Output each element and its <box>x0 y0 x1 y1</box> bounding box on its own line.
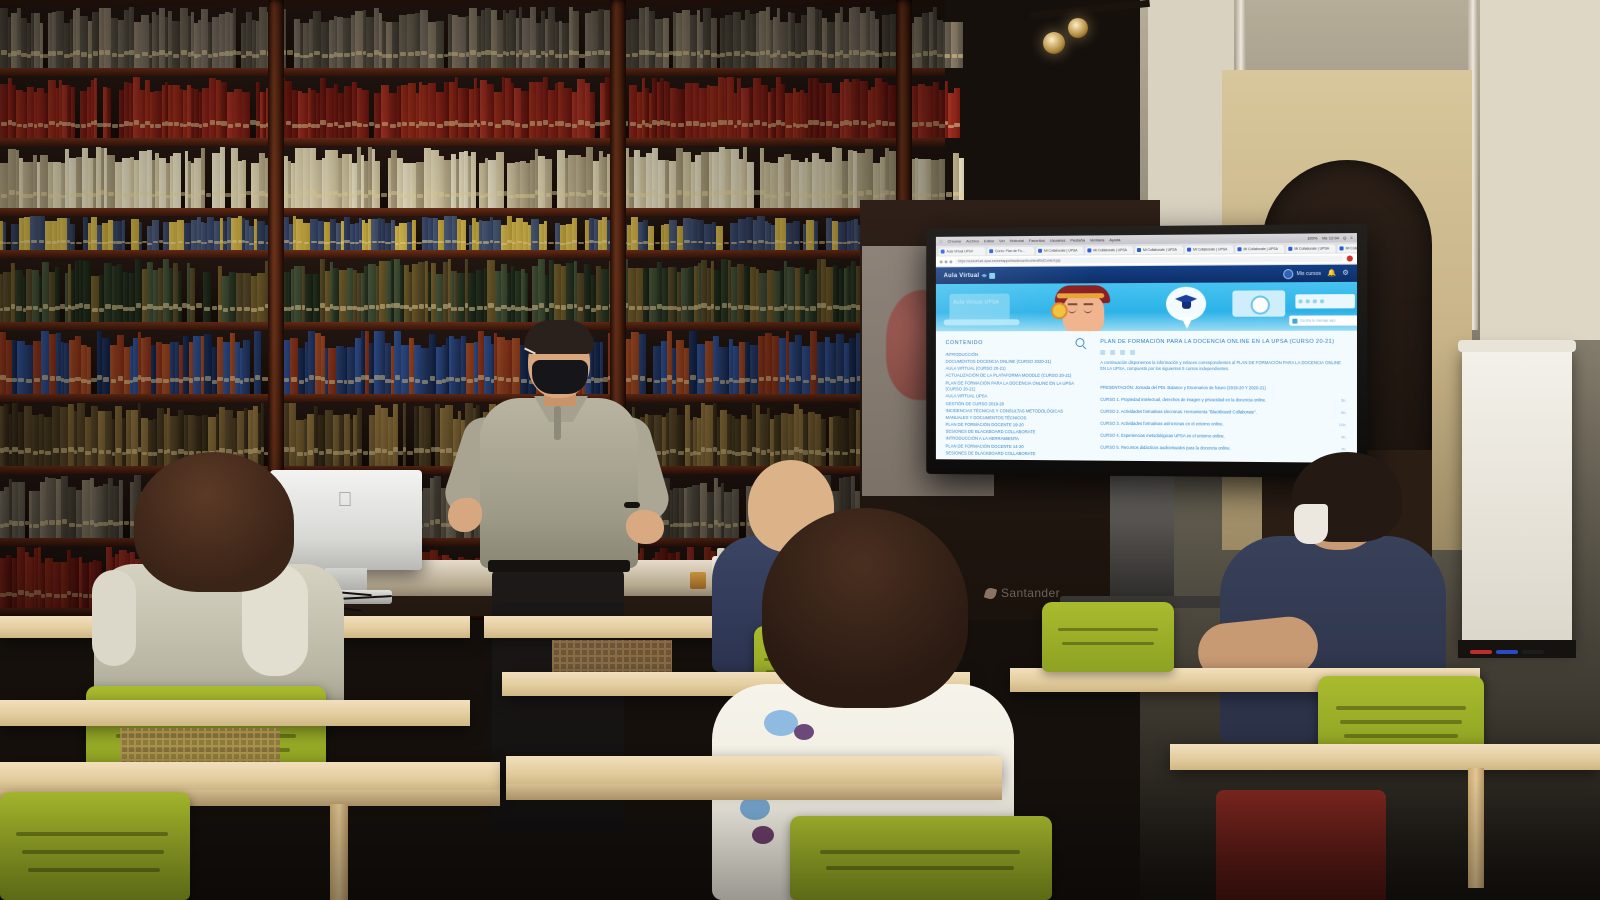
menubar-battery[interactable]: 100% <box>1307 235 1317 240</box>
course-page-body: CONTENIDO INTRODUCCIÓNDOCUMENTOS DOCENCI… <box>936 331 1357 463</box>
toolbar-icon-3[interactable] <box>1120 350 1125 355</box>
book-spine <box>860 81 868 138</box>
book-spine <box>344 86 352 138</box>
book-spine <box>11 224 19 250</box>
blouse-flower-1 <box>764 710 798 736</box>
book-spine <box>305 274 313 322</box>
book-spine <box>476 270 484 322</box>
book-spine <box>313 11 321 68</box>
menubar-item-5[interactable]: Favoritos <box>1029 238 1045 243</box>
book-spine <box>725 15 733 68</box>
book-spine <box>236 273 243 322</box>
book-spine <box>27 87 34 138</box>
content-toolbar[interactable] <box>1100 350 1346 355</box>
menubar-item-7[interactable]: Pestaña <box>1070 238 1085 243</box>
book-spine <box>368 264 376 322</box>
table-leg-b <box>1468 768 1484 888</box>
banner-toolbar-card <box>1295 294 1355 308</box>
bell-icon[interactable]: 🔔 <box>1327 270 1336 277</box>
book-spine <box>3 272 11 322</box>
book-spine <box>629 85 637 138</box>
book-spine <box>173 153 181 208</box>
book-spine <box>469 8 477 68</box>
spotlight-1 <box>1043 32 1065 54</box>
contenido-header: CONTENIDO <box>946 338 1085 347</box>
headphone-icon <box>1051 302 1068 319</box>
reload-icon[interactable] <box>949 260 952 263</box>
book-spine <box>554 264 561 322</box>
book-spine <box>227 92 234 138</box>
tab-label: Mi Collaborate | UPSA <box>1193 247 1227 251</box>
character-face <box>1063 294 1105 331</box>
book-spine <box>102 338 110 394</box>
book-spine <box>547 224 555 250</box>
forward-icon[interactable] <box>945 260 948 263</box>
book-spine <box>704 224 712 250</box>
shelf-back-1 <box>0 76 945 138</box>
book-spine <box>655 19 663 68</box>
book-spine <box>347 347 355 394</box>
book-spine <box>48 478 56 538</box>
course-link-label[interactable]: CURSO 5. Recursos didácticos audiovisual… <box>1100 445 1335 452</box>
course-menu-item-0[interactable]: INTRODUCCIÓN <box>946 352 1085 359</box>
shelf-back-0 <box>0 6 945 68</box>
book-spine <box>394 331 401 394</box>
book-spine <box>254 331 261 394</box>
book-spine <box>852 79 860 138</box>
book-spine <box>139 151 147 208</box>
menubar-clock[interactable]: Vie 12:04 <box>1322 235 1339 240</box>
book-spine <box>283 340 290 394</box>
course-menu-item-11[interactable]: INTRODUCCIÓN A LA HERRAMIENTA <box>946 436 1085 444</box>
book-spine <box>229 272 236 322</box>
book-spine <box>577 273 584 322</box>
book-spine <box>259 7 267 68</box>
book-spine <box>787 267 795 322</box>
book-spine <box>212 153 220 208</box>
book-spine <box>723 225 730 250</box>
attendee-3-hair <box>762 508 968 708</box>
book-spine <box>203 272 211 322</box>
menubar-item-8[interactable]: Ventana <box>1090 237 1105 242</box>
book-spine <box>833 416 841 466</box>
chair-foreground-red <box>1216 790 1386 900</box>
book-spine <box>381 85 389 138</box>
flipchart <box>1462 348 1572 648</box>
book-spine <box>836 334 844 394</box>
course-link-row-2[interactable]: CURSO 2. Actividades formativas síncrona… <box>1100 409 1346 415</box>
book-spine <box>134 22 141 68</box>
book-spine <box>954 88 960 138</box>
book-spine <box>107 155 115 208</box>
book-spine <box>212 17 219 68</box>
course-menu-item-1[interactable]: DOCUMENTOS DOCENCIA ONLINE (CURSO 2020-2… <box>946 359 1085 366</box>
aula-virtual-navbar[interactable]: Aula Virtual Mis cursos 🔔 ⚙ <box>936 265 1357 285</box>
browser-tab-5[interactable]: Mi Collaborate | UPSA <box>1185 245 1233 253</box>
book-spine <box>733 12 741 68</box>
my-courses-button[interactable]: Mis cursos <box>1283 268 1321 278</box>
course-link-label[interactable]: CURSO 2. Actividades formativas síncrona… <box>1100 409 1335 415</box>
toolbar-icon-1[interactable] <box>1100 350 1105 355</box>
content-title: PLAN DE FORMACIÓN PARA LA DOCENCIA ONLIN… <box>1100 339 1346 347</box>
browser-nav-buttons[interactable] <box>940 260 953 263</box>
book-spine <box>56 11 64 68</box>
book-spine <box>48 80 56 138</box>
tab-favicon <box>1187 247 1191 251</box>
book-spine <box>731 149 739 208</box>
book-spine <box>806 220 814 250</box>
book-spine <box>379 261 386 322</box>
book-spine <box>676 148 683 208</box>
toolbar-icon-2[interactable] <box>1110 350 1115 355</box>
course-content-panel: PLAN DE FORMACIÓN PARA LA DOCENCIA ONLIN… <box>1092 331 1357 463</box>
book-spine <box>339 270 347 322</box>
book-spine <box>111 92 119 139</box>
menubar-item-4[interactable]: Historial <box>1010 238 1024 243</box>
book-spine <box>32 270 39 322</box>
book-row-3 <box>0 216 945 250</box>
book-spine <box>8 149 16 208</box>
book-spine <box>712 152 719 208</box>
book-spine <box>131 219 139 250</box>
course-link-row-5[interactable]: CURSO 5. Recursos didácticos audiovisual… <box>1100 445 1346 452</box>
book-spine <box>429 334 436 394</box>
tab-favicon <box>1087 248 1091 252</box>
chair-foreground-left <box>0 792 190 900</box>
book-spine <box>257 221 265 250</box>
book-spine <box>326 88 334 138</box>
book-spine <box>399 223 407 250</box>
book-spine <box>669 220 677 250</box>
course-menu-item-6[interactable]: GESTIÓN DE CURSO 2019-20 <box>946 401 1085 408</box>
back-icon[interactable] <box>940 260 943 263</box>
browser-tab-6[interactable]: Mi Collaborate | UPSA <box>1235 244 1284 252</box>
book-spine <box>294 266 302 322</box>
marker-black <box>1522 650 1544 654</box>
book-spine <box>420 10 428 68</box>
book-spine <box>521 91 529 138</box>
chair-slot-15 <box>28 868 160 872</box>
book-spine <box>374 93 381 138</box>
book-spine <box>298 348 305 394</box>
chair-slot-11 <box>1058 628 1158 631</box>
table-row-1-center-edge <box>506 784 1002 800</box>
book-spine <box>0 84 8 138</box>
chat-placeholder: Escribe tu mensaje aquí <box>1301 319 1336 323</box>
book-spine <box>562 23 569 68</box>
book-spine <box>45 221 52 250</box>
book-spine <box>104 263 112 322</box>
book-spine <box>487 260 495 322</box>
book-spine <box>825 162 832 209</box>
book-spine <box>133 77 140 138</box>
shelf-back-3 <box>0 216 945 250</box>
browser-tab-0[interactable]: Aula Virtual UPSA <box>939 247 986 255</box>
book-spine <box>321 22 329 69</box>
book-spine <box>195 259 203 322</box>
book-spine <box>727 77 734 138</box>
book-spine <box>0 163 8 208</box>
chair-slot-14 <box>22 850 164 854</box>
menubar-item-0[interactable]: Chrome <box>948 239 962 244</box>
chair-slot-10 <box>826 866 1014 870</box>
course-link-label[interactable]: PRESENTACIÓN: Jornada del PDI. Balance y… <box>1100 385 1340 391</box>
book-spine <box>180 8 188 68</box>
book-spine <box>414 345 421 394</box>
course-menu-item-12[interactable]: PLAN DE FORMACIÓN DOCENTE 14-20 <box>946 443 1085 451</box>
display-stand-column <box>1110 476 1174 604</box>
course-menu-item-7[interactable]: INCIDENCIAS TÉCNICAS Y CONSULTAS METODOL… <box>946 408 1085 415</box>
book-spine <box>682 10 690 68</box>
book-spine <box>568 155 576 208</box>
attendee-1-collar-left <box>92 570 136 666</box>
menubar-item-1[interactable]: Archivo <box>966 238 979 243</box>
book-spine <box>177 220 184 250</box>
book-spine <box>677 89 685 138</box>
banner-dot-3 <box>1313 299 1317 303</box>
book-spine <box>141 15 149 68</box>
book-spine <box>135 259 142 322</box>
book-spine <box>765 333 772 394</box>
banner-chat-card: Escribe tu mensaje aquí <box>1289 315 1357 325</box>
book-spine <box>184 223 191 250</box>
tab-label: Mi Collaborate | UPSA <box>1346 246 1357 250</box>
book-spine <box>701 152 709 208</box>
book-spine <box>207 217 214 250</box>
book-spine <box>193 336 201 394</box>
book-spine <box>60 218 67 250</box>
browser-tab-3[interactable]: Mi Collaborate | UPSA <box>1085 246 1133 254</box>
book-spine <box>37 88 44 138</box>
book-spine <box>759 273 767 322</box>
room-background: Santander  Chrome Archivo Editar Ver Hi… <box>0 0 1600 900</box>
chat-avatar-icon <box>1292 318 1297 323</box>
course-menu-item-3[interactable]: ACTUALIZACIÓN DE LA PLATAFORMA MOODLE (C… <box>946 373 1085 380</box>
book-spine <box>658 160 665 208</box>
my-courses-label: Mis cursos <box>1297 270 1321 276</box>
book-spine <box>692 485 700 538</box>
menubar-search-icon[interactable]: Q <box>1343 235 1346 240</box>
book-spine <box>204 334 212 394</box>
book-spine <box>807 7 815 68</box>
course-link-hours: 5h. <box>1341 410 1347 415</box>
book-spine <box>669 161 676 208</box>
table-row-2-left <box>0 700 470 726</box>
course-menu-panel: CONTENIDO INTRODUCCIÓNDOCUMENTOS DOCENCI… <box>936 331 1092 463</box>
book-spine <box>760 414 767 466</box>
book-spine <box>750 345 758 394</box>
wall-panel-right <box>1480 0 1600 340</box>
book-spine <box>882 15 890 68</box>
book-spine <box>53 162 61 208</box>
contenido-heading: CONTENIDO <box>946 340 983 346</box>
course-link-row-1[interactable]: CURSO 1. Propiedad intelectual, derechos… <box>1100 397 1346 403</box>
browser-tab-8[interactable]: Mi Collaborate | UPSA <box>1337 244 1357 253</box>
browser-tab-1[interactable]: Curso: Plan de Fo... <box>987 246 1034 254</box>
book-spine <box>421 348 429 394</box>
book-spine <box>690 15 697 68</box>
book-spine <box>117 335 124 394</box>
book-spine <box>545 159 552 208</box>
navbar-right-group[interactable]: Mis cursos 🔔 ⚙ <box>1283 268 1348 279</box>
chair-front-center <box>790 816 1052 900</box>
book-row-4 <box>0 258 945 322</box>
book-spine <box>548 90 555 138</box>
book-spine <box>92 12 99 68</box>
banner-dot-4 <box>1320 299 1324 303</box>
book-spine <box>401 85 408 138</box>
course-link-row-4[interactable]: CURSO 4. Experiencias metodológicas UPSA… <box>1100 433 1346 440</box>
book-spine <box>399 15 407 68</box>
book-spine <box>257 273 265 322</box>
book-spine <box>290 338 298 394</box>
book-spine <box>770 163 778 208</box>
book-spine <box>231 218 238 250</box>
book-spine <box>888 85 896 138</box>
book-spine <box>683 152 691 208</box>
book-spine <box>496 152 504 208</box>
book-spine <box>636 268 643 322</box>
tab-favicon <box>1038 248 1042 252</box>
tab-favicon <box>1288 246 1292 250</box>
book-spine <box>152 220 159 250</box>
search-icon[interactable] <box>1076 338 1085 347</box>
book-spine <box>564 88 572 138</box>
browser-tab-7[interactable]: Mi Collaborate | UPSA <box>1286 244 1335 252</box>
menubar-status-area: 100% Vie 12:04 Q ≡ <box>1307 235 1353 240</box>
book-spine <box>808 412 815 466</box>
tab-label: Mi Collaborate | UPSA <box>1244 246 1278 250</box>
book-spine <box>201 9 208 68</box>
book-spine <box>516 218 523 250</box>
book-spine <box>925 86 933 138</box>
webcam-icon <box>1251 295 1270 314</box>
book-spine <box>104 8 111 68</box>
course-menu-item-13[interactable]: SESIONES DE BLACKBOARD COLLABORATE <box>946 450 1085 458</box>
course-link-row-3[interactable]: CURSO 3. Actividades formativas asíncron… <box>1100 421 1346 427</box>
profile-avatar[interactable] <box>1347 255 1353 261</box>
table-row-right-front <box>1170 744 1600 770</box>
course-menu-item-5[interactable]: AULA VIRTUAL UPSA <box>946 394 1085 401</box>
menubar-item-3[interactable]: Ver <box>999 238 1005 243</box>
book-spine <box>32 415 39 466</box>
speech-bubble-tail <box>1181 317 1193 329</box>
book-spine <box>436 92 444 139</box>
book-spine <box>173 85 180 138</box>
course-menu-item-2[interactable]: AULA VIRTUAL (CURSO 20-21) <box>946 366 1085 373</box>
course-link-row-0[interactable]: PRESENTACIÓN: Jornada del PDI. Balance y… <box>1100 385 1346 391</box>
flipchart-top-rail <box>1458 340 1576 352</box>
book-spine <box>772 336 779 394</box>
shelf-back-4 <box>0 258 945 322</box>
banner-laptop-base <box>944 319 1020 325</box>
book-spine <box>355 11 363 68</box>
course-link-list[interactable]: PRESENTACIÓN: Jornada del PDI. Balance y… <box>1100 385 1346 452</box>
book-spine <box>408 83 416 138</box>
book-spine <box>418 262 425 322</box>
book-spine <box>428 22 436 69</box>
book-spine <box>159 158 166 208</box>
course-link-label[interactable]: CURSO 4. Experiencias metodológicas UPSA… <box>1100 433 1335 440</box>
book-spine <box>780 22 788 69</box>
tab-favicon <box>1137 248 1141 252</box>
banner-character <box>1051 285 1110 331</box>
book-spine <box>428 83 436 138</box>
course-link-label[interactable]: CURSO 3. Actividades formativas asíncron… <box>1100 421 1332 427</box>
browser-tab-2[interactable]: Mi Collaborate | UPSA <box>1036 246 1083 254</box>
menubar-item-9[interactable]: Ayuda <box>1109 237 1120 242</box>
menubar-item-6[interactable]: Usuarios <box>1050 238 1066 243</box>
book-spine <box>325 150 333 208</box>
book-spine <box>285 81 292 138</box>
book-spine <box>424 408 431 466</box>
tab-label: Mi Collaborate | UPSA <box>1143 247 1177 251</box>
aula-virtual-logo[interactable]: Aula Virtual <box>944 272 995 278</box>
chair-center-back <box>1042 602 1174 672</box>
book-spine <box>494 92 502 138</box>
marker-red <box>1470 650 1492 654</box>
book-spine <box>628 268 636 322</box>
book-spine <box>577 79 585 138</box>
book-spine <box>721 259 728 322</box>
presenter-left-hand <box>448 498 482 532</box>
apple-menu-icon[interactable]:  <box>940 239 943 244</box>
gear-icon[interactable]: ⚙ <box>1342 270 1348 277</box>
book-spine <box>406 416 414 466</box>
book-spine <box>91 276 99 322</box>
book-spine <box>784 154 791 208</box>
menubar-item-2[interactable]: Editar <box>984 238 994 243</box>
banner-dot-2 <box>1306 299 1310 303</box>
book-spine <box>362 416 369 466</box>
book-spine <box>69 158 76 208</box>
browser-tab-4[interactable]: Mi Collaborate | UPSA <box>1135 245 1183 253</box>
table-row-1-center <box>506 756 1002 786</box>
book-spine <box>747 162 754 208</box>
book-spine <box>343 18 351 68</box>
menubar-controlcenter-icon[interactable]: ≡ <box>1350 235 1352 240</box>
course-link-label[interactable]: CURSO 1. Propiedad intelectual, derechos… <box>1100 397 1335 403</box>
course-menu-item-4[interactable]: PLAN DE FORMACIÓN PARA LA DOCENCIA ONLIN… <box>946 380 1085 394</box>
book-spine <box>80 16 88 68</box>
book-spine <box>809 270 817 322</box>
book-spine <box>110 345 117 394</box>
book-spine <box>819 83 826 138</box>
book-spine <box>697 344 705 394</box>
book-spine <box>80 91 87 138</box>
content-paragraph: A continuación disponemos la información… <box>1100 360 1346 374</box>
toolbar-icon-4[interactable] <box>1130 350 1135 355</box>
book-spine <box>444 216 452 250</box>
address-bar-url: https://aulavirtual.upsa.es/webapps/blac… <box>958 259 1060 264</box>
course-menu-list[interactable]: INTRODUCCIÓNDOCUMENTOS DOCENCIA ONLINE (… <box>946 352 1085 458</box>
book-spine <box>115 162 122 209</box>
book-spine <box>234 89 242 138</box>
book-spine <box>685 83 693 138</box>
address-bar[interactable]: https://aulavirtual.upsa.es/webapps/blac… <box>955 256 1343 265</box>
book-spine <box>601 269 609 322</box>
book-spine <box>761 85 768 138</box>
attendee-4-face-mask-icon <box>1294 504 1328 544</box>
book-spine <box>205 159 212 208</box>
book-spine <box>832 93 840 138</box>
book-spine <box>719 347 726 394</box>
tab-label: Curso: Plan de Fo... <box>995 248 1024 252</box>
book-spine <box>242 92 250 138</box>
book-spine <box>591 11 598 68</box>
book-spine <box>781 413 788 466</box>
book-spine <box>458 17 466 68</box>
